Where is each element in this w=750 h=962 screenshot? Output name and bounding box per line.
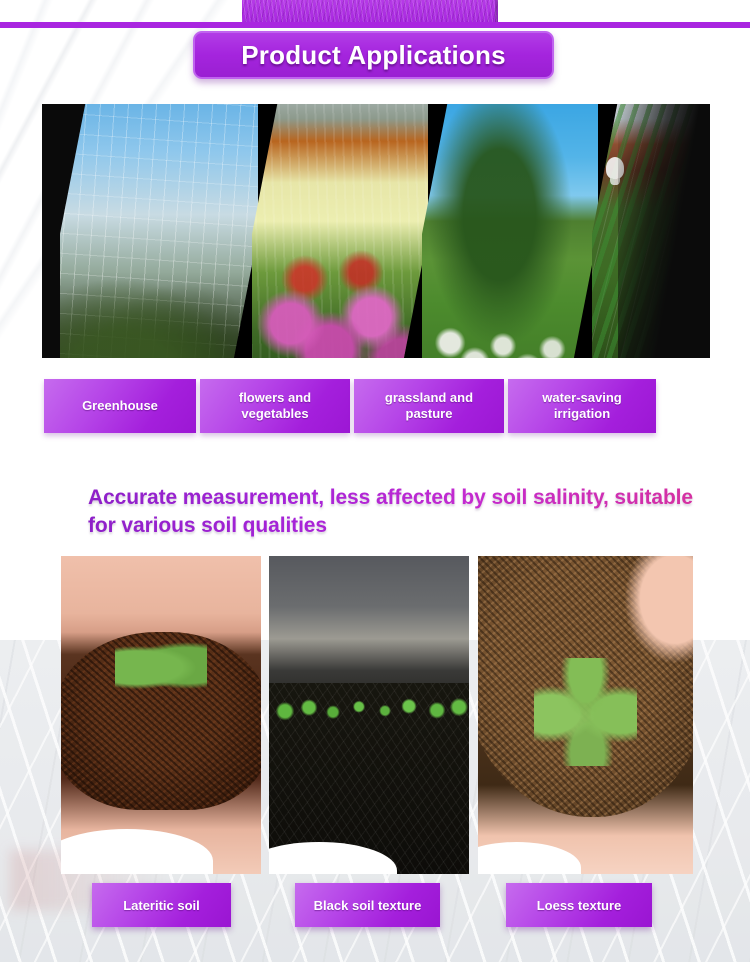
tab-flowers-and-vegetables[interactable]: flowers and vegetables	[200, 379, 350, 433]
lateritic-soil-photo	[61, 556, 261, 874]
page-title: Product Applications	[241, 42, 506, 68]
application-tabs: Greenhouse flowers and vegetables grassl…	[44, 379, 656, 433]
header-accent-block	[242, 0, 498, 24]
applications-photo-collage	[42, 104, 710, 358]
section-headline: Accurate measurement, less affected by s…	[88, 484, 698, 539]
caption-loess-texture[interactable]: Loess texture	[506, 883, 652, 927]
tab-grassland-and-pasture[interactable]: grassland and pasture	[354, 379, 504, 433]
page-title-banner: Product Applications	[193, 31, 554, 79]
loess-soil-photo	[478, 556, 693, 874]
black-soil-photo	[269, 556, 469, 874]
product-applications-page: Product Applications Greenhouse flowers …	[0, 0, 750, 962]
caption-black-soil-texture[interactable]: Black soil texture	[295, 883, 440, 927]
caption-lateritic-soil[interactable]: Lateritic soil	[92, 883, 231, 927]
collage-right-wedge	[618, 104, 710, 358]
header-divider-rule	[0, 22, 750, 28]
tab-greenhouse[interactable]: Greenhouse	[44, 379, 196, 433]
tab-water-saving-irrigation[interactable]: water-saving irrigation	[508, 379, 656, 433]
